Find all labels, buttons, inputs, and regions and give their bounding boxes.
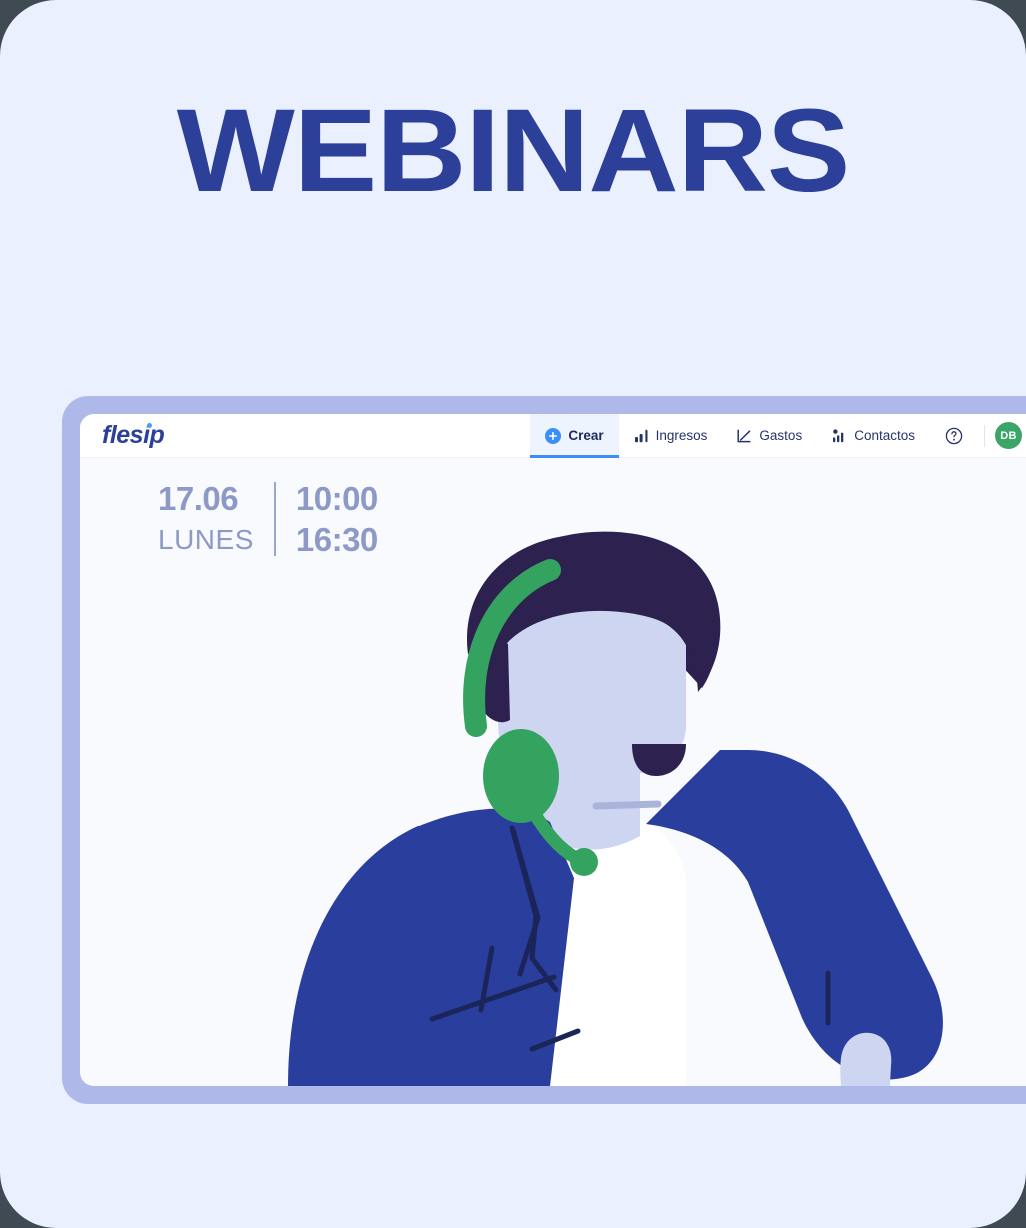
top-navigation-bar: flesip Crear xyxy=(80,414,1026,458)
help-button[interactable] xyxy=(930,414,978,458)
avatar-initials: DB xyxy=(1000,430,1017,442)
question-circle-icon xyxy=(945,427,963,445)
browser-frame: flesip Crear xyxy=(62,396,1026,1104)
app-logo-text: flesip xyxy=(102,421,164,449)
plus-circle-icon xyxy=(545,428,561,444)
avatar[interactable]: DB xyxy=(995,422,1022,449)
app-window: flesip Crear xyxy=(80,414,1026,1086)
content-area: 17.06 LUNES 10:00 16:30 xyxy=(80,458,1026,1086)
nav-item-ingresos[interactable]: Ingresos xyxy=(619,414,723,458)
bar-chart-icon xyxy=(634,429,649,443)
page-title: WEBINARS xyxy=(0,92,1026,210)
nav-divider xyxy=(984,425,985,447)
webinar-promo-card: WEBINARS flesip xyxy=(0,0,1026,1228)
nav-items: Crear Ingresos xyxy=(530,414,1026,458)
nav-item-contactos[interactable]: Contactos xyxy=(817,414,930,458)
app-logo[interactable]: flesip xyxy=(102,421,164,450)
nav-item-gastos[interactable]: Gastos xyxy=(722,414,817,458)
nav-item-crear-label: Crear xyxy=(568,428,603,443)
trend-down-icon xyxy=(737,429,752,443)
nav-item-crear[interactable]: Crear xyxy=(530,414,618,458)
nav-item-ingresos-label: Ingresos xyxy=(656,428,708,443)
man-with-headset-holding-phone-illustration xyxy=(80,458,1022,1086)
contacts-icon xyxy=(832,429,847,443)
nav-item-gastos-label: Gastos xyxy=(759,428,802,443)
nav-item-contactos-label: Contactos xyxy=(854,428,915,443)
